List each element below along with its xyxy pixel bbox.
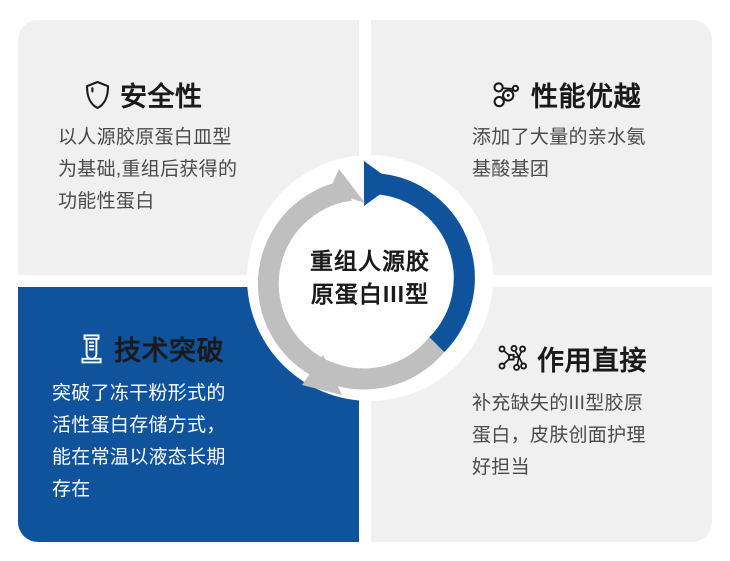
heading-performance: 性能优越: [492, 80, 641, 115]
network-molecule-icon: [498, 345, 528, 378]
heading-direct-action: 作用直接: [498, 345, 647, 378]
heading-technology: 技术突破: [78, 333, 224, 370]
body-direct-action: 补充缺失的III型胶原 蛋白，皮肤创面护理 好担当: [472, 388, 722, 484]
heading-safety-label: 安全性: [120, 84, 203, 111]
center-label-line1: 重组人源胶: [310, 245, 430, 278]
heading-direct-action-label: 作用直接: [537, 348, 647, 375]
test-tube-icon: [78, 333, 105, 370]
center-label: 重组人源胶 原蛋白III型: [247, 155, 493, 401]
shield-icon: [84, 80, 111, 115]
center-label-line2: 原蛋白III型: [311, 278, 429, 311]
heading-performance-label: 性能优越: [531, 84, 641, 111]
molecule-icon: [492, 80, 522, 115]
heading-technology-label: 技术突破: [114, 338, 224, 365]
infographic-canvas: 安全性 性能优越: [0, 0, 730, 561]
body-performance: 添加了大量的亲水氨 基酸基团: [472, 122, 722, 186]
center-cycle: 重组人源胶 原蛋白III型: [247, 155, 493, 401]
heading-safety: 安全性: [84, 80, 203, 115]
